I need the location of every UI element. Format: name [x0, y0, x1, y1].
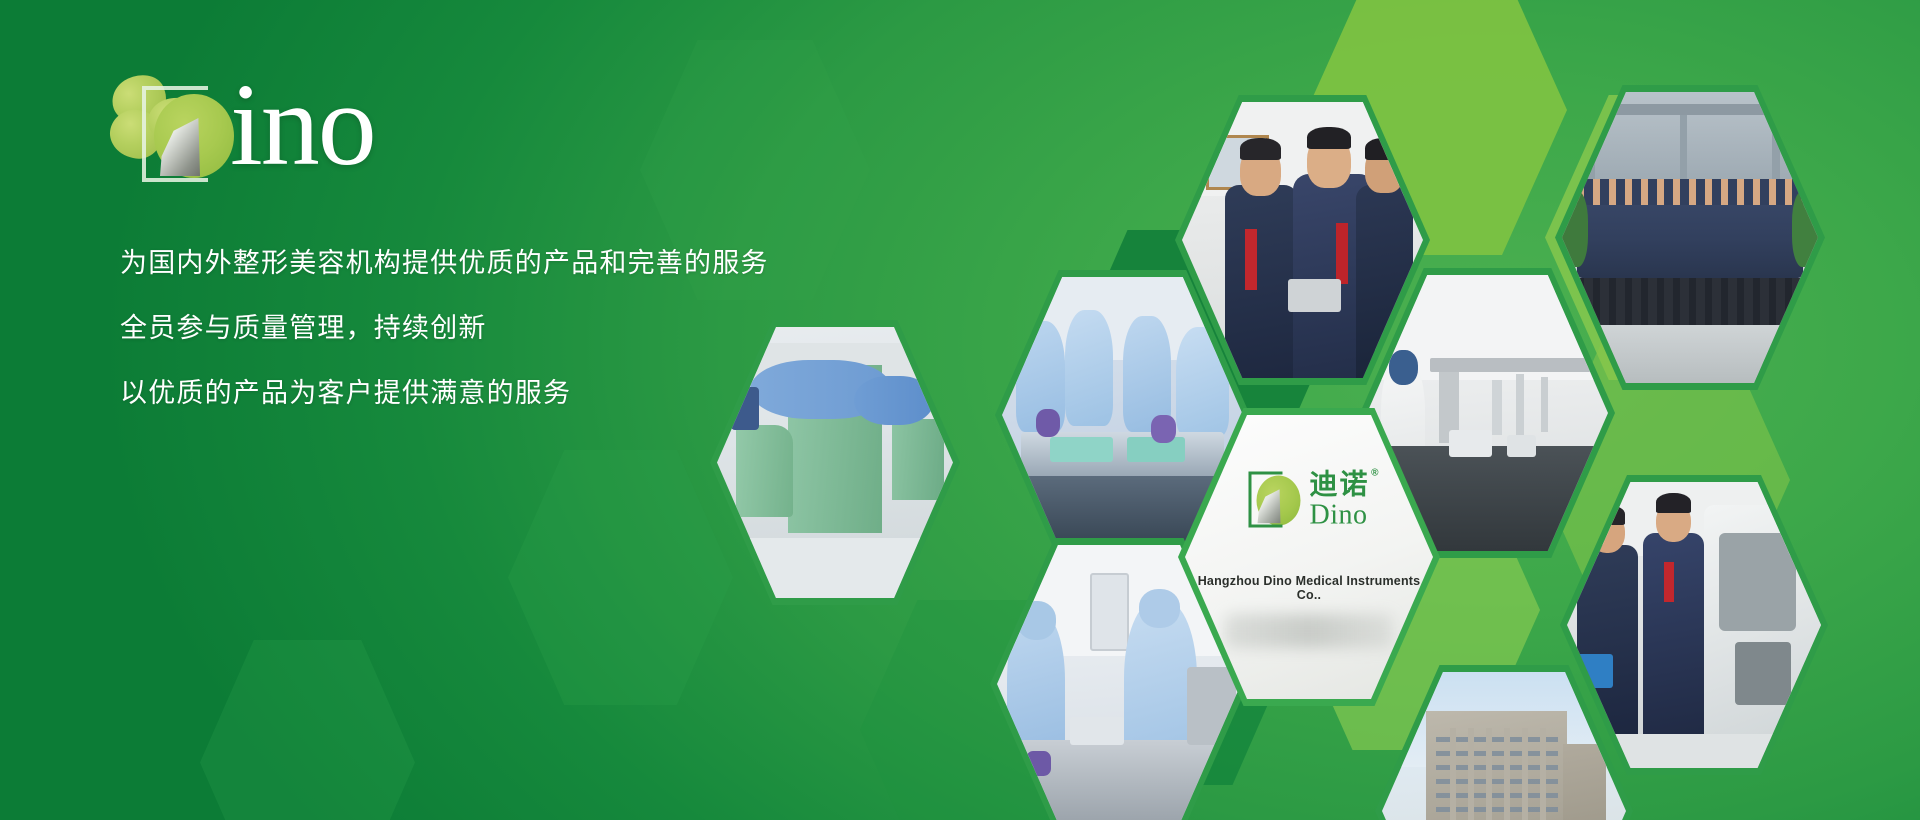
- company-name: Hangzhou Dino Medical Instruments Co..: [1185, 574, 1433, 602]
- logo-wordmark: ino: [230, 66, 375, 184]
- tile-cnc-workshop[interactable]: [1560, 475, 1828, 775]
- logo-d-mark-icon: [142, 86, 234, 182]
- hexagon-photo-collage: 迪诺 ® Dino Hangzhou Dino Medical Instrume…: [1000, 120, 1920, 700]
- center-tile-logo: 迪诺 ® Dino: [1248, 471, 1369, 530]
- dino-logo[interactable]: ino: [108, 72, 448, 182]
- tile-staff-group[interactable]: [1555, 85, 1825, 390]
- tagline-line-1: 为国内外整形美容机构提供优质的产品和完善的服务: [120, 250, 880, 277]
- hero-banner: ino 为国内外整形美容机构提供优质的产品和完善的服务 全员参与质量管理，持续创…: [0, 0, 1920, 820]
- blurred-text-placeholder: [1225, 614, 1394, 648]
- center-tile-logo-en: Dino: [1309, 502, 1369, 530]
- logo-cn-text: 迪诺: [1309, 469, 1369, 500]
- dino-leaf-mark-icon: [1248, 471, 1300, 529]
- center-tile-logo-cn: 迪诺 ®: [1309, 471, 1369, 499]
- registered-mark-icon: ®: [1371, 469, 1380, 479]
